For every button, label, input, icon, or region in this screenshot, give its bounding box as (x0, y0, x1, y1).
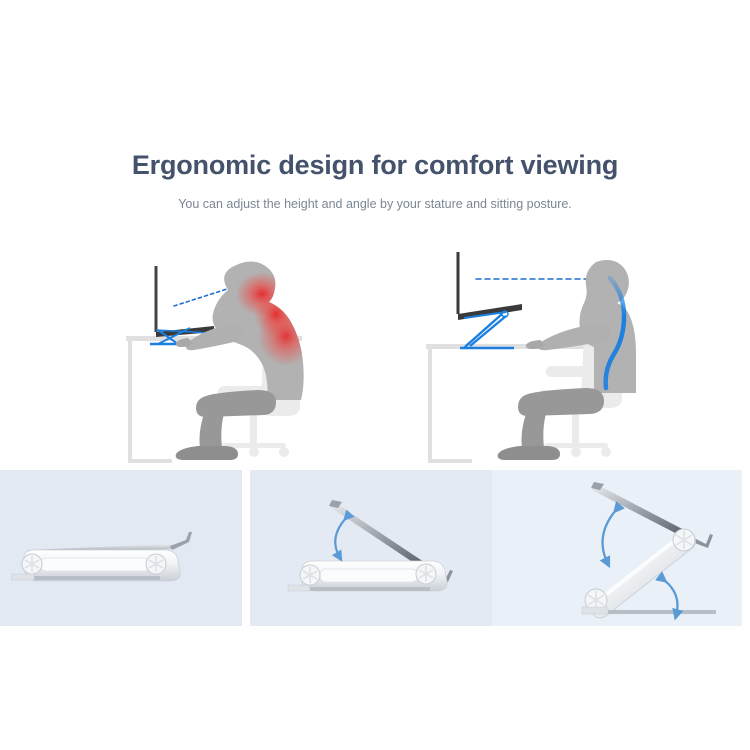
angle-adjust-arrow-top (603, 510, 616, 564)
hero-illustrations (0, 238, 750, 470)
infographic-page: Ergonomic design for comfort viewing You… (0, 0, 750, 750)
laptop-on-high-stand (458, 252, 522, 348)
angle-adjust-arrow (335, 518, 346, 558)
laptop-on-low-stand (150, 266, 214, 344)
base-plate (582, 607, 716, 614)
good-posture-scene (410, 238, 710, 470)
page-subtitle: You can adjust the height and angle by y… (0, 195, 750, 213)
product-panels (0, 470, 750, 626)
footer-whitespace (0, 626, 750, 750)
stand-partially-raised (250, 470, 492, 626)
bad-posture-scene (110, 238, 410, 470)
panel-divider-1 (242, 470, 250, 626)
stand-folded-flat (0, 470, 242, 626)
person-upright (498, 260, 636, 460)
person-hunched (176, 261, 314, 460)
stand-fully-extended (492, 470, 742, 626)
page-title: Ergonomic design for comfort viewing (0, 148, 750, 182)
